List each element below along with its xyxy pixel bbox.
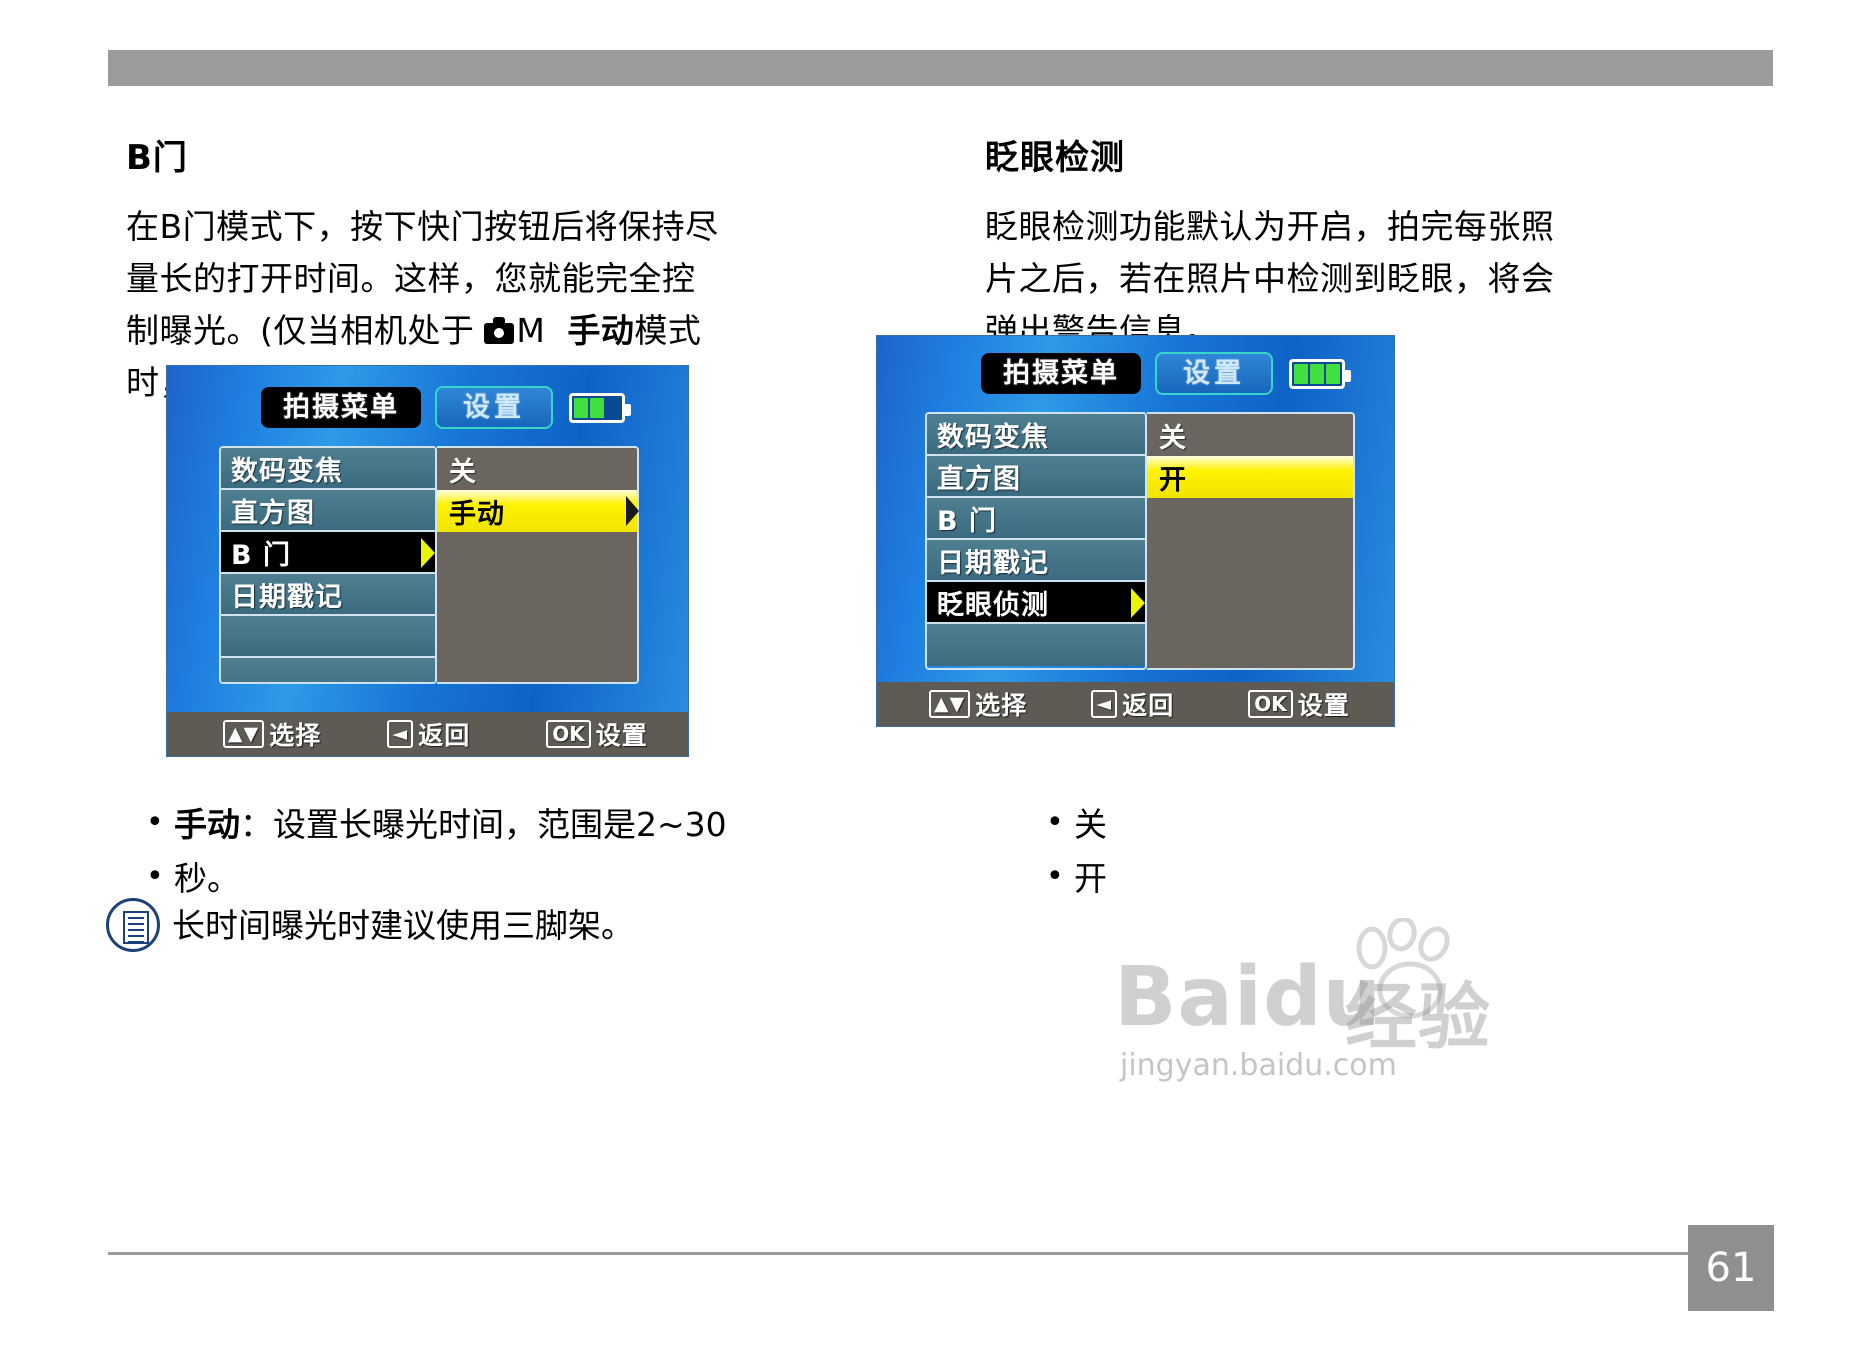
lcd-screenshot-blink: 拍摄菜单 设置 数码变焦 直方图 B 门 日期戳记 眨眼侦测 关 开 ▲▼ xyxy=(876,335,1395,727)
lcd1-menu-item-3[interactable]: 日期戳记 xyxy=(221,574,435,616)
right-bullet-1: 开 xyxy=(1040,854,1540,904)
left-bullet-0-strong: 手动 xyxy=(174,805,240,844)
lcd2-footer-select-label: 选择 xyxy=(975,686,1027,722)
lcd1-menu-item-2-label: B 门 xyxy=(231,533,291,572)
note-icon xyxy=(106,898,160,952)
lcd2-footer-back[interactable]: ◄ 返回 xyxy=(1091,686,1174,722)
left-section-title: B门 xyxy=(126,130,806,179)
tip-note-text: 长时间曝光时建议使用三脚架。 xyxy=(172,898,634,950)
lcd1-footer-back-label: 返回 xyxy=(418,716,470,752)
selection-arrow-icon xyxy=(421,538,435,568)
watermark: Baidu 经验 jingyan.baidu.com xyxy=(1110,930,1530,1090)
paw-icon xyxy=(1350,918,1470,1028)
left-bullet-0: 手动：设置长曝光时间，范围是2~30 xyxy=(140,800,820,850)
left-bullet-1: 秒。 xyxy=(140,854,820,904)
left-key-icon: ◄ xyxy=(1091,690,1117,718)
lcd1-menu-item-5 xyxy=(221,658,435,684)
left-paragraph-manual-label: 手动 xyxy=(567,311,634,350)
lcd2-footer-set[interactable]: OK 设置 xyxy=(1248,686,1350,722)
lcd1-footer-back[interactable]: ◄ 返回 xyxy=(387,716,470,752)
selection-arrow-icon xyxy=(1131,588,1145,618)
lcd2-battery-icon xyxy=(1289,359,1345,389)
left-key-icon: ◄ xyxy=(387,720,413,748)
lcd1-tab-settings[interactable]: 设置 xyxy=(435,386,553,429)
updown-key-icon: ▲▼ xyxy=(223,720,264,748)
lcd1-menu-item-1[interactable]: 直方图 xyxy=(221,490,435,532)
lcd-screenshot-bulb: 拍摄菜单 设置 数码变焦 直方图 B 门 日期戳记 关 手动 ▲▼ xyxy=(166,365,689,757)
right-paragraph: 眨眼检测功能默认为开启，拍完每张照 片之后，若在照片中检测到眨眼，将会 弹出警告… xyxy=(985,201,1665,357)
right-bullet-list: 关 开 xyxy=(1040,800,1540,908)
lcd1-tabbar: 拍摄菜单 设置 xyxy=(261,386,625,429)
lcd2-footer-set-label: 设置 xyxy=(1298,686,1350,722)
lcd2-option-0[interactable]: 关 xyxy=(1147,414,1353,456)
page-number: 61 xyxy=(1688,1225,1774,1311)
updown-key-icon: ▲▼ xyxy=(929,690,970,718)
ok-key-icon: OK xyxy=(1248,690,1293,718)
lcd2-tab-settings[interactable]: 设置 xyxy=(1155,352,1273,395)
ok-key-icon: OK xyxy=(546,720,591,748)
left-bullet-0-text: ：设置长曝光时间，范围是2~30 xyxy=(240,805,727,844)
lcd1-option-0[interactable]: 关 xyxy=(437,448,637,490)
lcd2-tab-shooting-menu[interactable]: 拍摄菜单 xyxy=(981,353,1141,394)
lcd2-menu-item-5 xyxy=(927,624,1145,666)
watermark-brand: Baidu xyxy=(1114,950,1382,1045)
lcd2-footer-select[interactable]: ▲▼ 选择 xyxy=(929,686,1027,722)
right-bullet-0: 关 xyxy=(1040,800,1540,850)
left-paragraph-line2: 量长的打开时间。这样，您就能完全控 xyxy=(126,259,696,298)
lcd1-option-1-label: 手动 xyxy=(449,492,505,531)
right-column: 眨眼检测 眨眼检测功能默认为开启，拍完每张照 片之后，若在照片中检测到眨眼，将会… xyxy=(985,130,1665,357)
camera-icon xyxy=(484,323,514,344)
lcd1-footer-set[interactable]: OK 设置 xyxy=(546,716,648,752)
right-paragraph-line2: 片之后，若在照片中检测到眨眼，将会 xyxy=(985,259,1555,298)
lcd2-option-1[interactable]: 开 xyxy=(1147,456,1353,498)
left-paragraph-line3a: 制曝光。(仅当相机处于 xyxy=(126,311,474,350)
lcd2-menu-item-0[interactable]: 数码变焦 xyxy=(927,414,1145,456)
lcd1-option-1[interactable]: 手动 xyxy=(437,490,637,532)
lcd2-menu: 数码变焦 直方图 B 门 日期戳记 眨眼侦测 关 开 xyxy=(925,412,1355,670)
lcd1-menu: 数码变焦 直方图 B 门 日期戳记 关 手动 xyxy=(219,446,639,684)
lcd2-menu-left-list: 数码变焦 直方图 B 门 日期戳记 眨眼侦测 xyxy=(925,412,1147,670)
lcd2-footer: ▲▼ 选择 ◄ 返回 OK 设置 xyxy=(877,682,1394,726)
lcd1-battery-icon xyxy=(569,393,625,423)
lcd1-menu-item-2[interactable]: B 门 xyxy=(221,532,435,574)
footer-rule xyxy=(108,1252,1773,1255)
lcd1-footer-select[interactable]: ▲▼ 选择 xyxy=(223,716,321,752)
watermark-url: jingyan.baidu.com xyxy=(1120,1048,1397,1083)
left-bullet-1-text: 秒。 xyxy=(174,859,240,898)
lcd2-menu-item-2[interactable]: B 门 xyxy=(927,498,1145,540)
tip-note: 长时间曝光时建议使用三脚架。 xyxy=(106,898,806,952)
lcd1-footer-select-label: 选择 xyxy=(269,716,321,752)
left-bullet-list: 手动：设置长曝光时间，范围是2~30 秒。 xyxy=(140,800,820,908)
lcd2-menu-item-4[interactable]: 眨眼侦测 xyxy=(927,582,1145,624)
lcd1-options-panel: 关 手动 xyxy=(437,446,639,684)
right-section-title: 眨眼检测 xyxy=(985,130,1665,179)
lcd1-footer: ▲▼ 选择 ◄ 返回 OK 设置 xyxy=(167,712,688,756)
lcd1-footer-set-label: 设置 xyxy=(596,716,648,752)
lcd2-options-panel: 关 开 xyxy=(1147,412,1355,670)
option-arrow-icon xyxy=(626,496,639,526)
lcd2-menu-item-4-label: 眨眼侦测 xyxy=(937,583,1049,622)
header-band xyxy=(108,50,1773,86)
lcd1-tab-shooting-menu[interactable]: 拍摄菜单 xyxy=(261,387,421,428)
lcd2-menu-item-3[interactable]: 日期戳记 xyxy=(927,540,1145,582)
left-paragraph-line1: 在B门模式下，按下快门按钮后将保持尽 xyxy=(126,207,719,246)
lcd2-footer-back-label: 返回 xyxy=(1122,686,1174,722)
left-paragraph-mode-letter: M xyxy=(516,311,545,350)
lcd1-menu-item-4 xyxy=(221,616,435,658)
manual-page: B门 在B门模式下，按下快门按钮后将保持尽 量长的打开时间。这样，您就能完全控 … xyxy=(0,0,1871,1361)
lcd2-option-1-label: 开 xyxy=(1159,458,1187,497)
lcd1-menu-left-list: 数码变焦 直方图 B 门 日期戳记 xyxy=(219,446,437,684)
left-paragraph-mode-word: 模式 xyxy=(634,311,701,350)
lcd1-menu-item-0[interactable]: 数码变焦 xyxy=(221,448,435,490)
right-paragraph-line1: 眨眼检测功能默认为开启，拍完每张照 xyxy=(985,207,1555,246)
lcd2-tabbar: 拍摄菜单 设置 xyxy=(981,352,1345,395)
lcd2-menu-item-1[interactable]: 直方图 xyxy=(927,456,1145,498)
watermark-brand-cn: 经验 xyxy=(1345,958,1491,1063)
